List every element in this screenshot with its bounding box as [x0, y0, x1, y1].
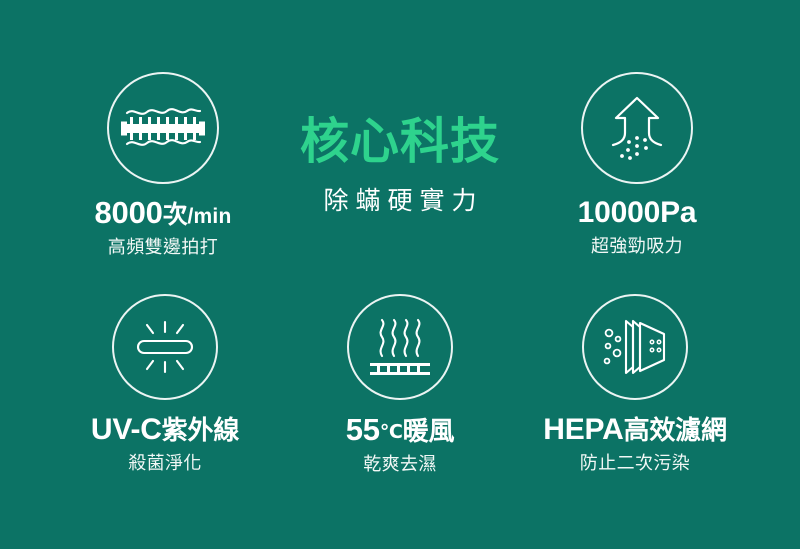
beater-bar-unit-cjk: 次 [163, 201, 188, 229]
feature-beater-bar: 8000次/min 高頻雙邊拍打 [43, 72, 283, 259]
uvc-title-latin: UV-C [91, 413, 162, 446]
feature-hepa-subtitle: 防止二次污染 [515, 449, 755, 475]
beater-bar-unit-rate: /min [188, 205, 232, 228]
warm-air-title-cjk: 暖風 [403, 416, 455, 446]
beater-bar-icon [121, 99, 205, 157]
beater-bar-value: 8000 [95, 195, 163, 230]
page-title: 核心科技 [280, 118, 520, 167]
warm-air-icon [368, 316, 432, 378]
feature-suction-title: 10000Pa [517, 197, 757, 229]
hepa-filter-icon-circle [582, 294, 688, 400]
feature-warm-air: 55℃暖風 乾爽去濕 [280, 294, 520, 476]
feature-uvc-title: UV-C紫外線 [45, 414, 285, 446]
feature-warm-air-text: 55℃暖風 乾爽去濕 [280, 414, 520, 476]
hepa-title-cjk: 高效濾網 [624, 415, 727, 445]
warm-air-degree: ℃ [380, 422, 403, 443]
feature-uvc: UV-C紫外線 殺菌淨化 [45, 294, 285, 475]
feature-beater-bar-text: 8000次/min 高頻雙邊拍打 [43, 197, 283, 259]
hepa-filter-icon [600, 317, 670, 377]
feature-beater-bar-title: 8000次/min [43, 197, 283, 230]
warm-air-value: 55 [346, 412, 380, 447]
feature-warm-air-subtitle: 乾爽去濕 [280, 450, 520, 476]
uvc-title-cjk: 紫外線 [162, 415, 239, 445]
suction-airflow-icon [601, 95, 673, 161]
uv-lamp-icon-circle [112, 294, 218, 400]
feature-suction-text: 10000Pa 超強勁吸力 [517, 197, 757, 258]
headline-block: 核心科技 除蟎硬實力 [280, 118, 520, 217]
hepa-title-latin: HEPA [543, 413, 623, 446]
feature-uvc-subtitle: 殺菌淨化 [45, 449, 285, 475]
feature-hepa-text: HEPA高效濾網 防止二次污染 [515, 414, 755, 475]
core-technology-poster: 8000次/min 高頻雙邊拍打 核心科技 除蟎硬實力 [0, 0, 800, 549]
feature-hepa-title: HEPA高效濾網 [515, 414, 755, 446]
feature-uvc-text: UV-C紫外線 殺菌淨化 [45, 414, 285, 475]
uv-lamp-icon [132, 316, 198, 378]
beater-bar-icon-circle [107, 72, 219, 184]
suction-icon-circle [581, 72, 693, 184]
page-subtitle: 除蟎硬實力 [280, 181, 520, 217]
feature-suction: 10000Pa 超強勁吸力 [517, 72, 757, 258]
feature-suction-subtitle: 超強勁吸力 [517, 232, 757, 258]
feature-hepa: HEPA高效濾網 防止二次污染 [515, 294, 755, 475]
feature-beater-bar-subtitle: 高頻雙邊拍打 [43, 233, 283, 259]
warm-air-icon-circle [347, 294, 453, 400]
feature-warm-air-title: 55℃暖風 [280, 414, 520, 447]
